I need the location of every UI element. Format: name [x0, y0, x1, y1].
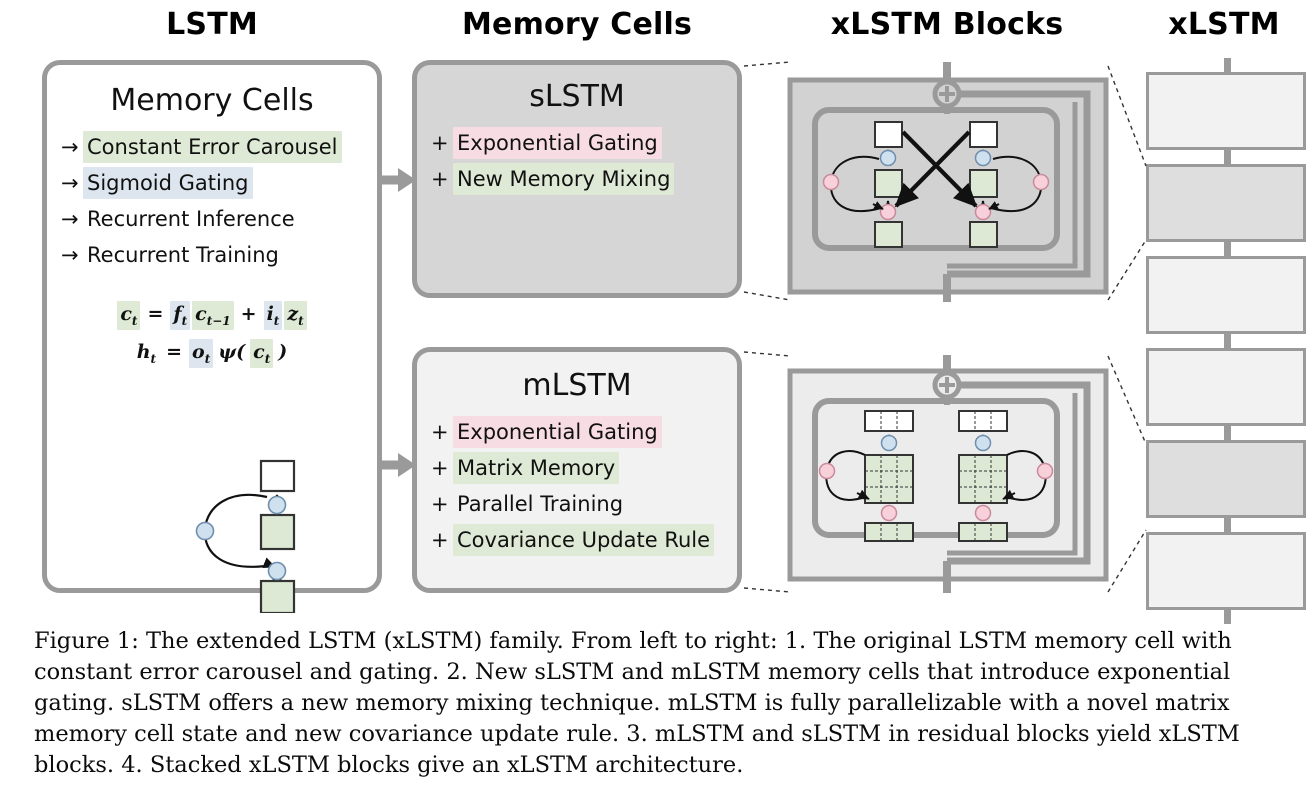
list-item: + Matrix Memory — [431, 452, 727, 484]
panel-title-slstm: sLSTM — [417, 79, 737, 114]
stack-connector — [1224, 610, 1231, 624]
plus-bullet-icon: + — [431, 489, 453, 519]
eq-token: ct — [117, 301, 140, 330]
list-item: + Exponential Gating — [431, 416, 727, 448]
list-item: → Sigmoid Gating — [61, 167, 367, 199]
plus-bullet-icon: + — [431, 164, 453, 194]
stack-connector — [1224, 426, 1231, 440]
arrow-bullet-icon: → — [61, 204, 83, 234]
panel-title-memory-cells: Memory Cells — [47, 83, 377, 118]
eq-token: zt — [284, 301, 306, 330]
lstm-memory-cell-diagram — [165, 453, 365, 613]
arrow-bullet-icon: → — [61, 132, 83, 162]
plus-bullet-icon: + — [431, 525, 453, 555]
stack-connector — [1224, 58, 1231, 72]
list-item-label: Sigmoid Gating — [83, 167, 253, 199]
xlstm-block-slstm — [787, 62, 1109, 302]
xlstm-block-mlstm — [787, 355, 1109, 593]
plus-bullet-icon: + — [431, 453, 453, 483]
stack-block-2-slstm — [1146, 164, 1306, 242]
stack-block-4 — [1146, 348, 1306, 426]
plus-bullet-icon: + — [431, 417, 453, 447]
mlstm-feature-list: + Exponential Gating + Matrix Memory + P… — [431, 416, 727, 560]
eq-token: ct−1 — [192, 301, 234, 330]
list-item: → Recurrent Training — [61, 239, 367, 271]
list-item: + Parallel Training — [431, 488, 727, 520]
eq-token: ψ( — [215, 339, 248, 365]
stack-connector — [1224, 242, 1231, 256]
list-item-label: Recurrent Inference — [83, 203, 299, 235]
lstm-equations: ct = ft ct−1 + it zt ht = ot ψ( ct ) — [47, 301, 377, 377]
stack-connector — [1224, 150, 1231, 164]
plus-bullet-icon: + — [431, 128, 453, 158]
eq-token: it — [264, 301, 283, 330]
figure-caption: Figure 1: The extended LSTM (xLSTM) fami… — [34, 626, 1288, 781]
list-item-label: Constant Error Carousel — [83, 131, 342, 163]
equation-hidden-state-update: ht = ot ψ( ct ) — [47, 339, 377, 368]
lstm-feature-list: → Constant Error Carousel → Sigmoid Gati… — [61, 131, 367, 275]
arrow-bullet-icon: → — [61, 168, 83, 198]
stack-block-3 — [1146, 256, 1306, 334]
list-item-label: New Memory Mixing — [453, 163, 674, 195]
list-item-label: Exponential Gating — [453, 416, 662, 448]
list-item-label: Recurrent Training — [83, 239, 283, 271]
connector-arrow-lstm-to-mlstm — [378, 435, 420, 495]
eq-token: ) — [275, 339, 290, 365]
xlstm-architecture-stack — [1146, 66, 1316, 594]
list-item-label: Exponential Gating — [453, 127, 662, 159]
eq-token: ht — [134, 339, 159, 368]
list-item: + Exponential Gating — [431, 127, 727, 159]
column-title-xlstm-blocks: xLSTM Blocks — [782, 7, 1112, 42]
stack-connector — [1224, 518, 1231, 532]
figure-canvas: LSTM Memory Cells xLSTM Blocks xLSTM Mem… — [0, 0, 1316, 809]
arrow-bullet-icon: → — [61, 240, 83, 270]
panel-mlstm: mLSTM + Exponential Gating + Matrix Memo… — [412, 347, 742, 593]
slstm-feature-list: + Exponential Gating + New Memory Mixing — [431, 127, 727, 199]
column-title-lstm: LSTM — [42, 7, 382, 42]
eq-token: ct — [250, 339, 273, 368]
equation-cell-state-update: ct = ft ct−1 + it zt — [47, 301, 377, 330]
stack-connector — [1224, 334, 1231, 348]
panel-slstm: sLSTM + Exponential Gating + New Memory … — [412, 60, 742, 298]
eq-operator: = — [147, 303, 163, 325]
eq-token: ft — [170, 301, 190, 330]
column-title-memory-cells: Memory Cells — [412, 7, 742, 42]
column-title-xlstm: xLSTM — [1132, 7, 1316, 42]
list-item: → Recurrent Inference — [61, 203, 367, 235]
list-item-label: Covariance Update Rule — [453, 524, 714, 556]
list-item: + Covariance Update Rule — [431, 524, 727, 556]
list-item: + New Memory Mixing — [431, 163, 727, 195]
list-item-label: Parallel Training — [453, 488, 627, 520]
connector-arrow-lstm-to-slstm — [378, 150, 420, 210]
list-item-label: Matrix Memory — [453, 452, 619, 484]
stack-block-5-slstm — [1146, 440, 1306, 518]
stack-block-1 — [1146, 72, 1306, 150]
stack-block-6 — [1146, 532, 1306, 610]
eq-token: ot — [189, 339, 213, 368]
panel-title-mlstm: mLSTM — [417, 368, 737, 403]
eq-operator: + — [241, 303, 257, 325]
panel-lstm-memory-cells: Memory Cells → Constant Error Carousel →… — [42, 60, 382, 593]
eq-operator: = — [166, 341, 182, 363]
list-item: → Constant Error Carousel — [61, 131, 367, 163]
